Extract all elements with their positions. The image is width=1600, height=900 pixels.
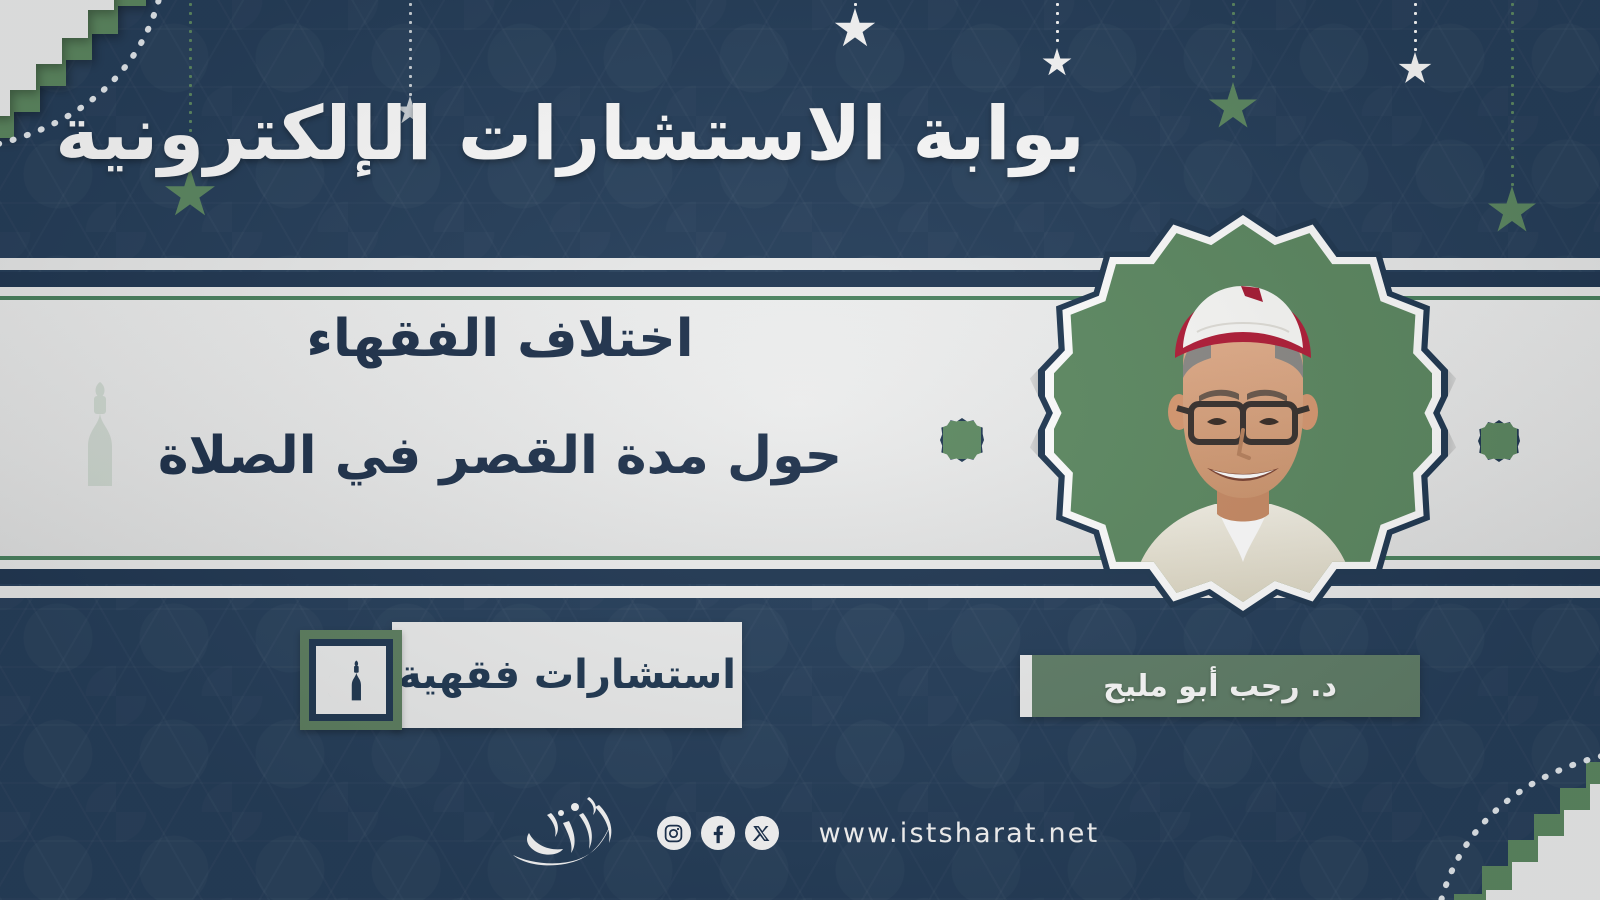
footer: www.istsharat.net <box>0 790 1600 876</box>
category-icon-tile <box>316 646 386 714</box>
promo-card: بوابة الاستشارات الإلكترونية <box>0 0 1600 900</box>
x-twitter-icon[interactable] <box>745 816 779 850</box>
mosque-crescent-icon <box>328 655 374 705</box>
topic-title: اختلاف الفقهاء حول مدة القصر في الصلاة <box>120 300 880 496</box>
category-label-plate: استشارات فقهية <box>392 622 742 728</box>
category-label: استشارات فقهية <box>398 652 736 698</box>
star-icon <box>1398 52 1432 86</box>
star-icon <box>1487 186 1537 236</box>
portal-title: بوابة الاستشارات الإلكترونية <box>200 54 940 214</box>
star-thread <box>854 0 857 8</box>
category-icon-frame <box>300 630 402 730</box>
star-icon <box>1208 82 1258 132</box>
band-dot-2 <box>1478 420 1520 462</box>
speaker-name: د. رجب أبو مليح <box>1103 669 1337 704</box>
hanging-star-4 <box>1042 0 1072 78</box>
hanging-star-6 <box>1398 0 1432 86</box>
name-badge-accent-bar <box>1020 655 1032 717</box>
speaker-name-badge: د. رجب أبو مليح <box>1020 655 1420 717</box>
hanging-star-5 <box>1208 0 1258 132</box>
star-thread <box>1056 0 1059 48</box>
speaker-portrait <box>1038 208 1448 618</box>
topic-title-line-1: اختلاف الفقهاء <box>120 300 880 379</box>
hanging-star-3 <box>834 0 876 50</box>
star-icon <box>834 8 876 50</box>
magazine-logo <box>501 793 631 873</box>
band-dot-1 <box>940 418 984 462</box>
category-icon-inner-frame <box>309 639 393 721</box>
hanging-star-7 <box>1487 0 1537 236</box>
instagram-icon[interactable] <box>657 816 691 850</box>
topic-title-line-2: حول مدة القصر في الصلاة <box>120 417 880 496</box>
star-thread <box>1414 0 1417 52</box>
star-icon <box>1042 48 1072 78</box>
facebook-icon[interactable] <box>701 816 735 850</box>
portal-title-text: بوابة الاستشارات الإلكترونية <box>55 88 1084 181</box>
star-thread <box>1232 0 1235 82</box>
website-url[interactable]: www.istsharat.net <box>819 818 1100 849</box>
social-links <box>657 816 779 850</box>
avatar <box>1113 262 1373 602</box>
star-thread <box>1511 0 1514 186</box>
